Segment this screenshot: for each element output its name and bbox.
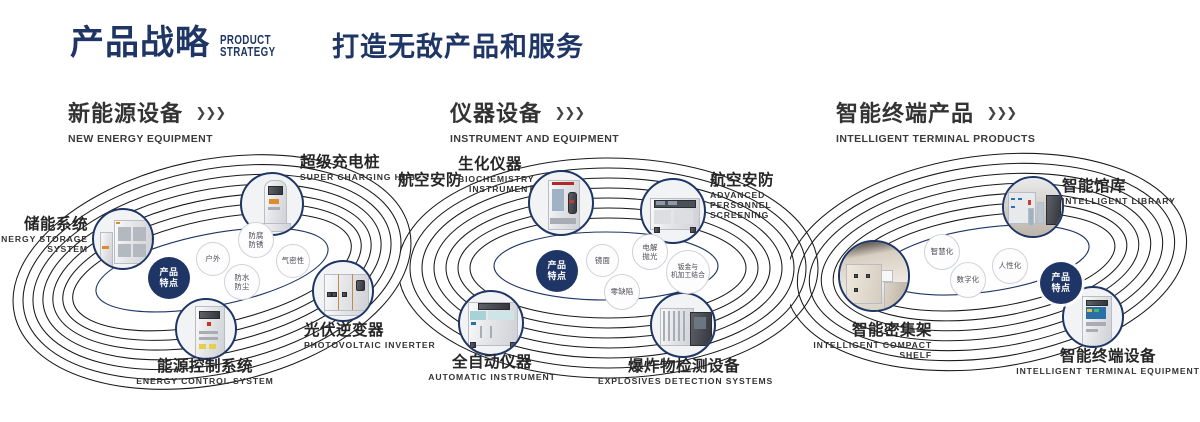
feature-label: 数字化 — [957, 275, 980, 284]
column-title-en: NEW ENERGY EQUIPMENT — [68, 133, 225, 145]
label-cn: 生化仪器 — [458, 156, 534, 173]
label-en: INTELLIGENT COMPACT SHELF — [752, 341, 932, 360]
feature-label: 零缺陷 — [611, 287, 634, 296]
feature-bubble: 钣金与 机加工结合 — [666, 250, 710, 294]
label-automatic-instrument: 全自动仪器 AUTOMATIC INSTRUMENT — [414, 354, 570, 383]
label-en: INTELLIGENT LIBRARY — [1062, 197, 1176, 207]
label-intelligent-library: 智能馆库 INTELLIGENT LIBRARY — [1062, 178, 1176, 207]
label-explosives-detection-systems: 爆炸物检测设备 EXPLOSIVES DETECTION SYSTEMS — [598, 358, 770, 387]
feature-label: 镜面 — [595, 256, 610, 265]
label-energy-storage-system: 储能系统 ENERGY STORAGE SYSTEM — [0, 216, 88, 255]
feature-bubble: 智慧化 — [924, 234, 960, 270]
column-title-new-energy: 新能源设备 ❯❯❯ NEW ENERGY EQUIPMENT — [68, 96, 225, 145]
column-title-cn: 智能终端产品 — [836, 96, 974, 128]
feature-bubble: 零缺陷 — [604, 274, 640, 310]
column-title-en: INTELLIGENT TERMINAL PRODUCTS — [836, 133, 1035, 145]
core-bubble-product-features: 产品 特点 — [1040, 262, 1082, 304]
node-energy-control-system[interactable] — [175, 298, 237, 360]
core-line-2: 特点 — [547, 271, 566, 282]
column-title-cn: 新能源设备 — [68, 96, 183, 128]
label-cn: 储能系统 — [0, 216, 88, 233]
label-en: ENERGY CONTROL SYSTEM — [115, 377, 295, 387]
cluster-intelligent-terminal: 智能馆库 INTELLIGENT LIBRARY 智能密集架 INTELLIGE… — [790, 150, 1200, 400]
label-biochemistry-instrument: 生化仪器 BIOCHEMISTRY INSTRUMENT — [458, 156, 534, 195]
label-en: BIOCHEMISTRY INSTRUMENT — [458, 175, 534, 194]
node-photovoltaic-inverter[interactable] — [312, 260, 374, 322]
biochemistry-analyzer-icon — [530, 172, 592, 234]
feature-label: 防水 防尘 — [234, 273, 249, 291]
label-cn: 航空安防 — [352, 172, 462, 189]
feature-label: 户外 — [205, 254, 220, 263]
screening-machine-icon — [642, 180, 704, 242]
core-line-2: 特点 — [159, 278, 178, 289]
page-title-en: PRODUCT STRATEGY — [220, 34, 275, 58]
feature-bubble: 人性化 — [992, 248, 1028, 284]
page-title: 产品战略 PRODUCT STRATEGY — [70, 26, 291, 60]
feature-label: 气密性 — [282, 256, 305, 265]
feature-label: 钣金与 机加工结合 — [671, 264, 705, 280]
feature-bubble: 气密性 — [276, 244, 310, 278]
feature-label: 智慧化 — [931, 247, 954, 256]
core-line-2: 特点 — [1051, 283, 1070, 294]
chevrons-right-icon: ❯❯❯ — [554, 105, 584, 121]
label-intelligent-compact-shelf: 智能密集架 INTELLIGENT COMPACT SHELF — [752, 322, 932, 361]
node-biochemistry-instrument[interactable] — [528, 170, 594, 236]
page-title-cn: 产品战略 — [70, 26, 210, 60]
control-cabinet-icon — [177, 300, 235, 358]
cluster-instrument: 航空安防 生化仪器 BIOCHEMISTRY INSTRUMENT 航空安防 A… — [400, 150, 820, 400]
page-title-en-line2: STRATEGY — [220, 46, 275, 58]
feature-bubble: 镜面 — [586, 244, 619, 277]
label-en: ENERGY STORAGE SYSTEM — [0, 235, 88, 254]
inverter-cabinet-icon — [314, 262, 372, 320]
core-line-1: 产品 — [1051, 272, 1070, 283]
node-automatic-instrument[interactable] — [458, 290, 524, 356]
chevrons-right-icon: ❯❯❯ — [986, 105, 1016, 121]
label-intelligent-terminal-equipment: 智能终端设备 INTELLIGENT TERMINAL EQUIPMENT — [1008, 348, 1200, 377]
column-title-intelligent-terminal: 智能终端产品 ❯❯❯ INTELLIGENT TERMINAL PRODUCTS — [836, 96, 1035, 145]
node-intelligent-library[interactable] — [1002, 176, 1064, 238]
label-cn: 全自动仪器 — [414, 354, 570, 371]
label-cn: 智能馆库 — [1062, 178, 1176, 195]
label-cn: 智能终端设备 — [1008, 348, 1200, 365]
node-explosives-detection-systems[interactable] — [650, 292, 716, 358]
core-bubble-product-features: 产品 特点 — [536, 250, 578, 292]
core-bubble-product-features: 产品 特点 — [148, 257, 190, 299]
label-cn: 能源控制系统 — [115, 358, 295, 375]
automatic-instrument-icon — [460, 292, 522, 354]
feature-bubble: 防水 防尘 — [224, 264, 260, 300]
label-cn: 超级充电桩 — [300, 154, 416, 171]
explosives-detector-icon — [652, 294, 714, 356]
label-cn: 爆炸物检测设备 — [598, 358, 770, 375]
core-line-1: 产品 — [159, 267, 178, 278]
node-energy-storage-system[interactable] — [92, 208, 154, 270]
feature-label: 人性化 — [999, 261, 1022, 270]
label-en: AUTOMATIC INSTRUMENT — [414, 373, 570, 383]
feature-bubble: 电解 抛光 — [632, 234, 668, 270]
product-strategy-infographic: 产品战略 PRODUCT STRATEGY 打造无敌产品和服务 新能源设备 ❯❯… — [0, 0, 1200, 422]
feature-label: 电解 抛光 — [642, 243, 657, 261]
node-intelligent-compact-shelf[interactable] — [838, 240, 910, 312]
column-title-cn: 仪器设备 — [450, 96, 542, 128]
core-line-1: 产品 — [547, 260, 566, 271]
label-en: EXPLOSIVES DETECTION SYSTEMS — [598, 377, 770, 387]
chevrons-right-icon: ❯❯❯ — [195, 105, 225, 121]
label-aviation-security-left: 航空安防 — [352, 172, 462, 189]
column-title-instrument: 仪器设备 ❯❯❯ INSTRUMENT AND EQUIPMENT — [450, 96, 619, 145]
smart-library-icon — [1004, 178, 1062, 236]
compact-shelf-icon — [840, 242, 908, 310]
feature-label: 防腐 防锈 — [248, 231, 263, 249]
feature-bubble: 防腐 防锈 — [238, 222, 274, 258]
label-en: INTELLIGENT TERMINAL EQUIPMENT — [1008, 367, 1200, 377]
energy-storage-cabinet-icon — [94, 210, 152, 268]
page-subtitle: 打造无敌产品和服务 — [332, 34, 584, 61]
feature-bubble: 数字化 — [950, 262, 986, 298]
label-cn: 智能密集架 — [752, 322, 932, 339]
label-energy-control-system: 能源控制系统 ENERGY CONTROL SYSTEM — [115, 358, 295, 387]
feature-bubble: 户外 — [196, 242, 230, 276]
column-title-en: INSTRUMENT AND EQUIPMENT — [450, 133, 619, 145]
